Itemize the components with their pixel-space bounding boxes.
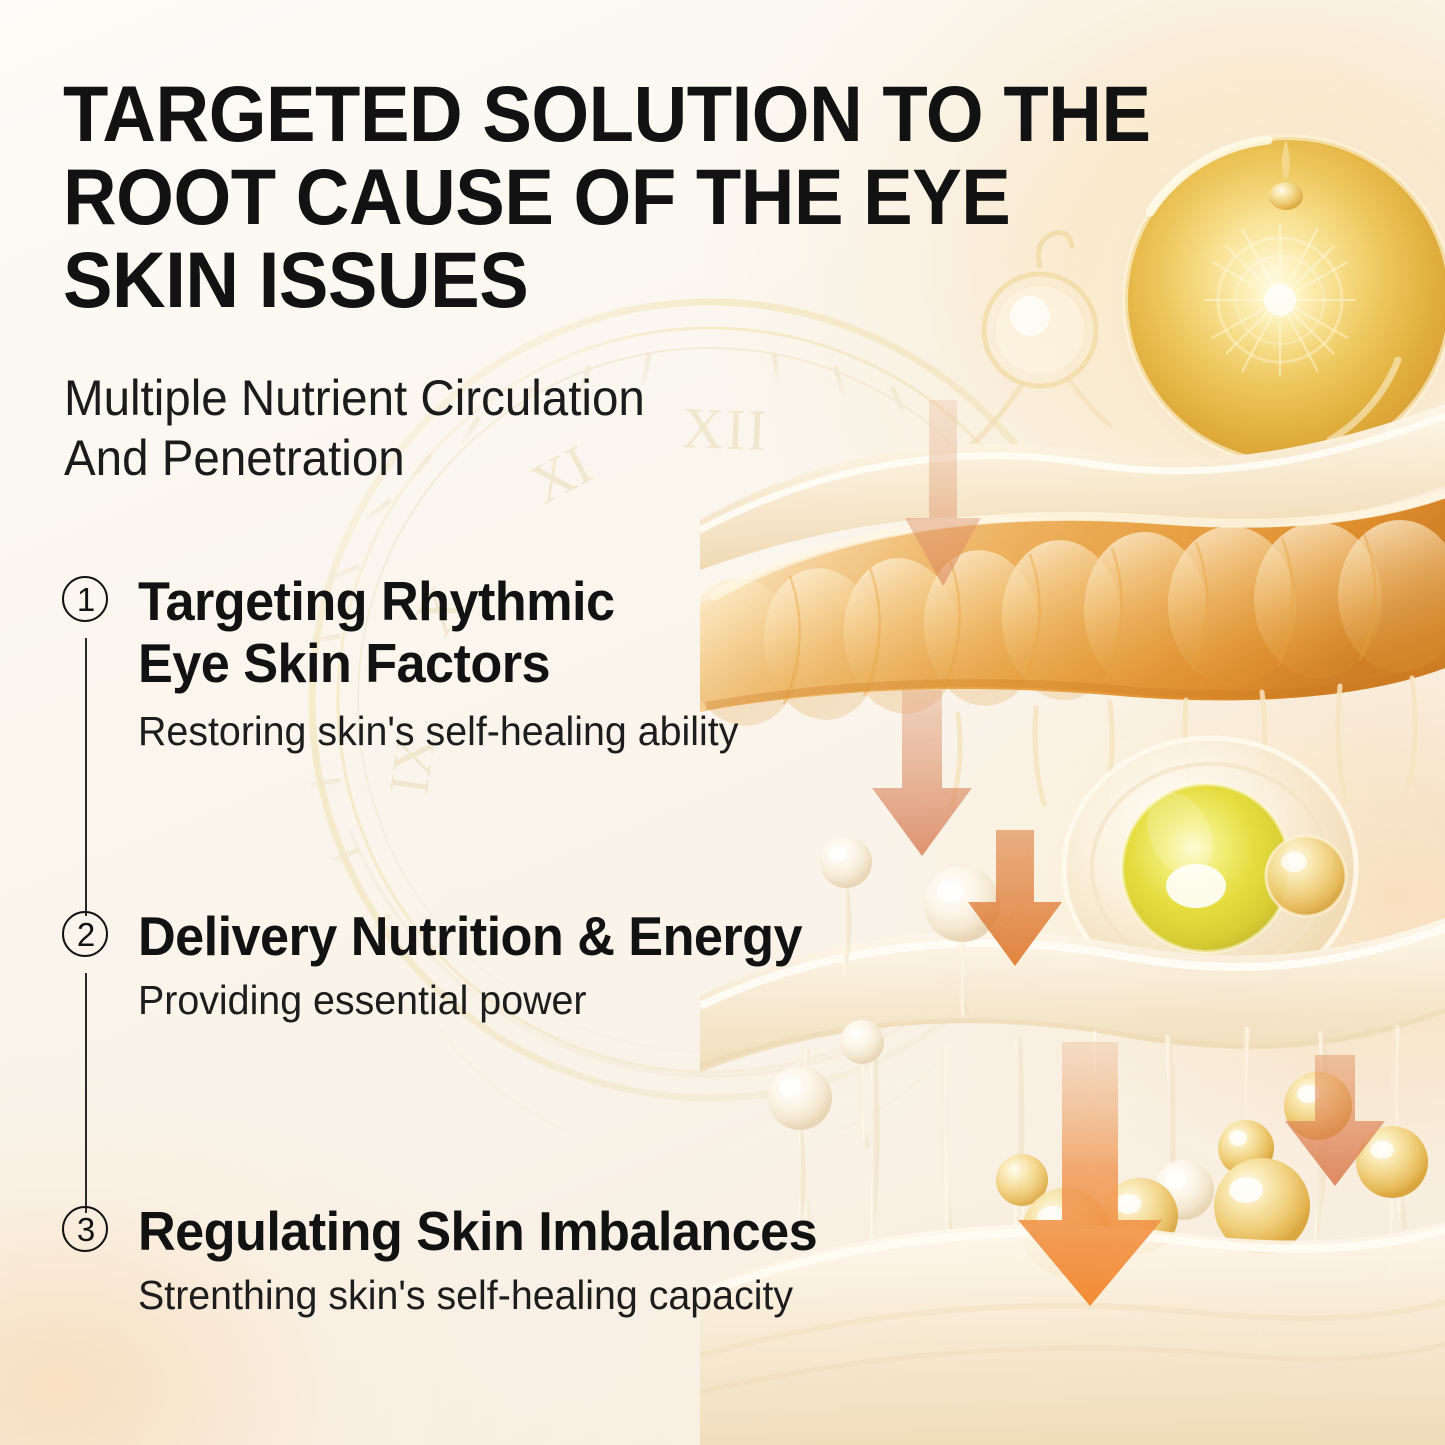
product-feature-graphic: XII XI X IX xyxy=(0,0,1445,1445)
benefit-steps-list: 1 Targeting Rhythmic Eye Skin Factors Re… xyxy=(0,0,1445,1445)
step-connector-line-1 xyxy=(85,638,87,916)
benefit-step-3-body: Regulating Skin Imbalances Strenthing sk… xyxy=(138,1200,1148,1320)
step-number-label: 1 xyxy=(77,583,95,616)
text-content: TARGETED SOLUTION TO THE ROOT CAUSE OF T… xyxy=(0,0,1445,1445)
step-number-badge-3: 3 xyxy=(56,1200,116,1260)
step-number-badge-2: 2 xyxy=(56,905,116,965)
step-number-label: 2 xyxy=(77,918,95,951)
benefit-step-2-subtitle: Providing essential power xyxy=(138,975,1108,1025)
step-number-label: 3 xyxy=(77,1213,95,1246)
step-connector-line-2 xyxy=(85,973,87,1213)
benefit-step-1-body: Targeting Rhythmic Eye Skin Factors Rest… xyxy=(138,570,1148,756)
benefit-step-2-body: Delivery Nutrition & Energy Providing es… xyxy=(138,905,1148,1025)
step-number-badge-1: 1 xyxy=(56,570,116,630)
benefit-step-1-subtitle: Restoring skin's self-healing ability xyxy=(138,706,1108,756)
benefit-step-3-subtitle: Strenthing skin's self-healing capacity xyxy=(138,1270,1108,1320)
benefit-step-1-title: Targeting Rhythmic Eye Skin Factors xyxy=(138,570,1098,694)
benefit-step-3-title: Regulating Skin Imbalances xyxy=(138,1200,1098,1262)
benefit-step-2-title: Delivery Nutrition & Energy xyxy=(138,905,1098,967)
